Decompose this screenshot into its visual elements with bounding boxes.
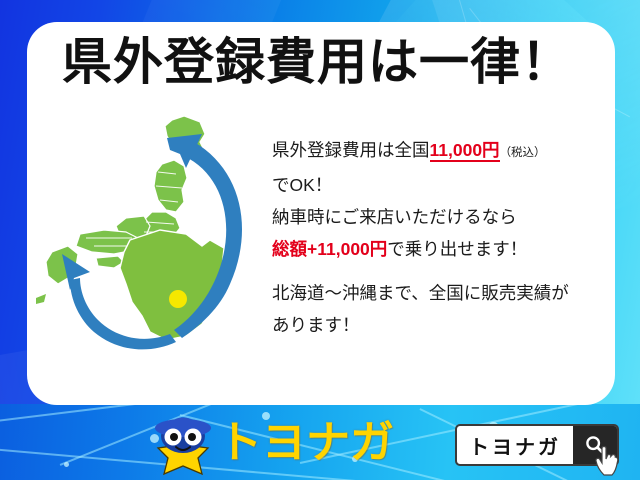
body-line-3: 納車時にご来店いただけるなら bbox=[272, 201, 602, 233]
body-line-4-post: で乗り出せます！ bbox=[387, 239, 527, 259]
screenshot-root: 県外登録費用は一律！ bbox=[0, 0, 640, 480]
body-line-2: でOK！ bbox=[272, 169, 602, 201]
price-total: 総額+11,000円 bbox=[272, 239, 387, 259]
body-line-1: 県外登録費用は全国11,000円（税込） bbox=[272, 134, 602, 169]
toyonaga-mascot bbox=[146, 406, 220, 480]
body-line-5: 北海道〜沖縄まで、全国に販売実績が bbox=[272, 277, 602, 309]
search-input[interactable]: トヨナガ bbox=[457, 426, 573, 464]
tax-note: （税込） bbox=[500, 147, 546, 159]
paragraph-gap bbox=[272, 265, 602, 277]
body-line-4: 総額+11,000円で乗り出せます！ bbox=[272, 233, 602, 265]
shop-location-marker bbox=[169, 290, 187, 308]
page-title: 県外登録費用は一律！ bbox=[62, 33, 582, 91]
body-line-6: あります！ bbox=[272, 309, 602, 341]
brand-logo-text: トヨナガ bbox=[218, 418, 394, 468]
price-national: 11,000円 bbox=[430, 140, 500, 162]
body-copy: 県外登録費用は全国11,000円（税込） でOK！ 納車時にご来店いただけるなら… bbox=[272, 134, 602, 341]
japan-map-illustration bbox=[34, 112, 264, 387]
hand-cursor-icon bbox=[592, 445, 622, 478]
mascot-hat-crown bbox=[169, 418, 197, 429]
body-line-1-pre: 県外登録費用は全国 bbox=[272, 140, 430, 160]
